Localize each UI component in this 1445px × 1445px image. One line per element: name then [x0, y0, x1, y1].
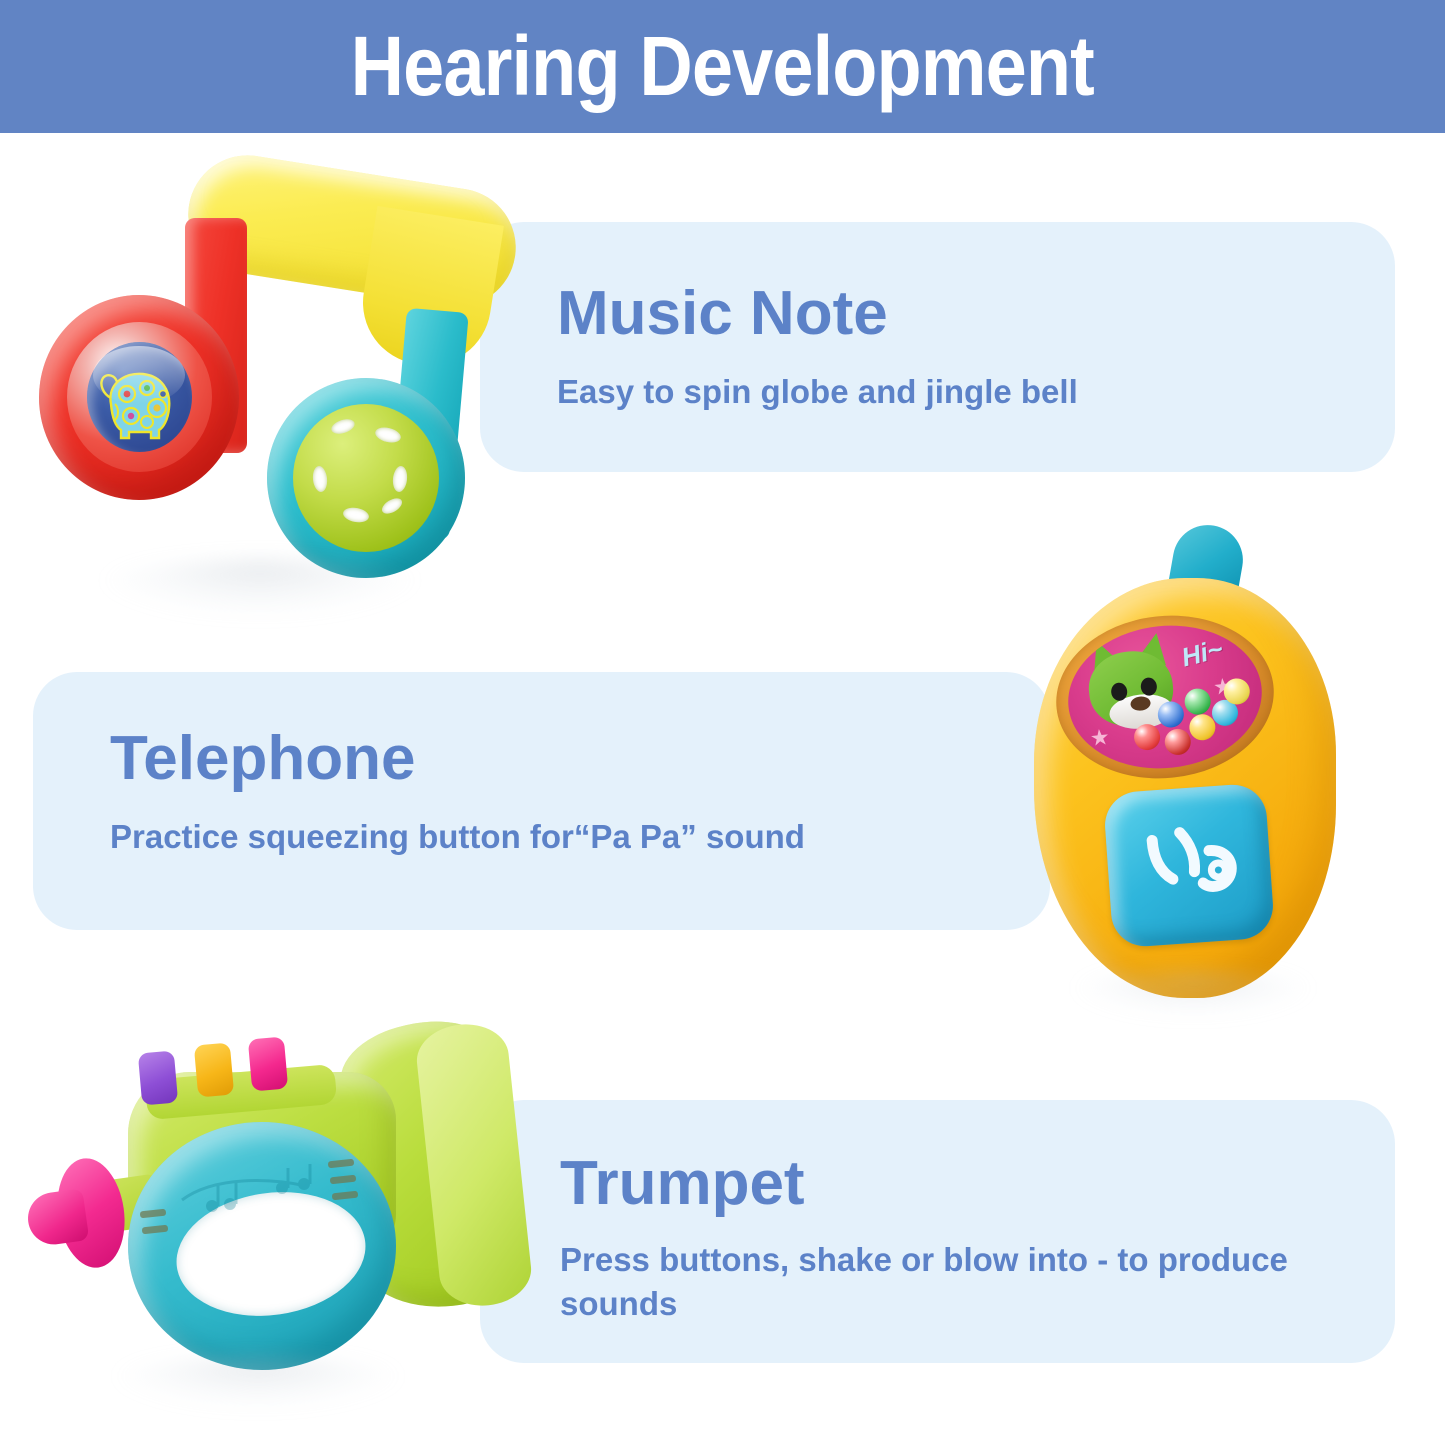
- trumpet-valve-button-pink[interactable]: [248, 1037, 288, 1092]
- trumpet-mouthpiece-tip: [25, 1188, 90, 1248]
- feature-panel-telephone: [33, 672, 1050, 930]
- toy-trumpet: [28, 1010, 533, 1395]
- toy-telephone: Hi~ ★ ★: [1020, 520, 1365, 1000]
- trumpet-valve-button-yellow[interactable]: [194, 1043, 234, 1098]
- page-header-banner: Hearing Development: [0, 0, 1445, 133]
- screen-bead: [1157, 700, 1186, 729]
- trumpet-valve-button-purple[interactable]: [138, 1051, 178, 1106]
- feature-title-trumpet: Trumpet: [560, 1153, 805, 1215]
- screen-bead: [1133, 723, 1162, 752]
- music-note-spinning-globe: [87, 342, 192, 452]
- screen-bead: [1163, 728, 1192, 757]
- feature-title-telephone: Telephone: [110, 728, 415, 790]
- feature-description-music-note: Easy to spin globe and jingle bell: [557, 370, 1377, 414]
- ball-hole: [342, 506, 370, 524]
- feature-title-music-note: Music Note: [557, 283, 888, 345]
- feature-description-telephone: Practice squeezing button for“Pa Pa” sou…: [110, 815, 1010, 859]
- jingle-bell-ball: [293, 404, 439, 552]
- music-note-rattle-toy: [35, 160, 535, 580]
- star-icon: ★: [1089, 726, 1111, 750]
- page-title: Hearing Development: [351, 24, 1094, 108]
- screen-hi-text: Hi~: [1179, 633, 1226, 673]
- ball-hole: [392, 465, 409, 492]
- ball-hole: [379, 495, 404, 516]
- ball-hole: [312, 465, 329, 492]
- feature-description-trumpet: Press buttons, shake or blow into - to p…: [560, 1238, 1350, 1326]
- ball-hole: [374, 425, 403, 445]
- screen-bead: [1183, 687, 1212, 716]
- telephone-squeeze-button[interactable]: [1103, 783, 1275, 949]
- ball-hole: [330, 417, 357, 437]
- phone-handset-icon: [1135, 818, 1244, 907]
- elephant-icon: [87, 342, 192, 452]
